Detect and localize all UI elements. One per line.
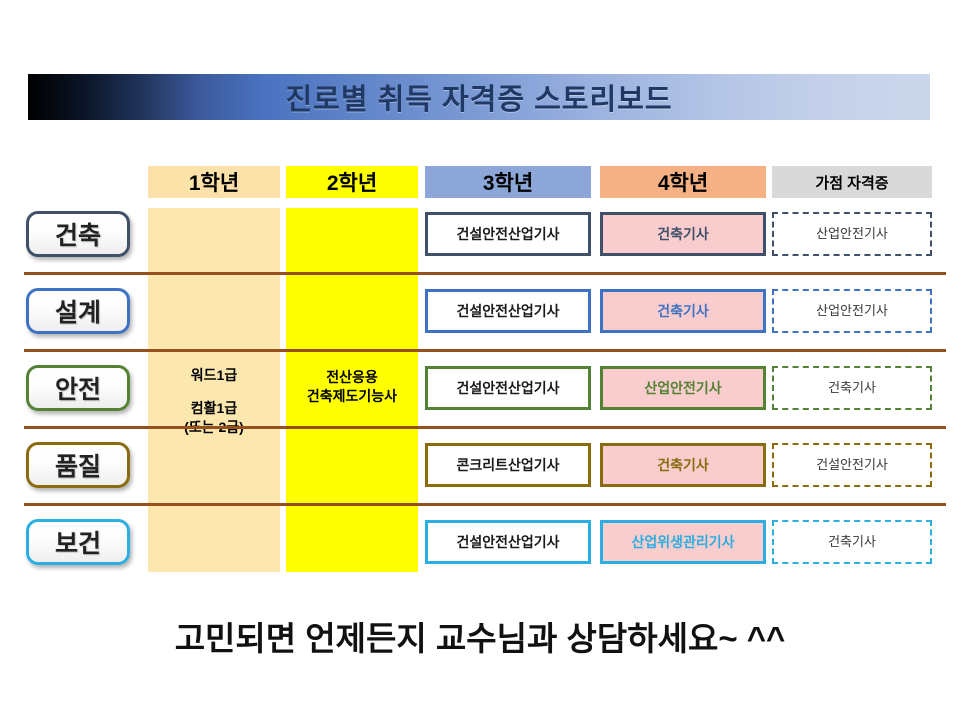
column-header-year3: 3학년 [425, 166, 591, 198]
row-label-text: 설계 [55, 293, 101, 329]
year1-span-cell: 워드1급 컴활1급 (또는 2급) [148, 208, 280, 572]
cert-label: 건설안전산업기사 [456, 380, 559, 397]
cert-cell-year4-row4[interactable]: 건축기사 [600, 443, 766, 487]
column-header-year1: 1학년 [148, 166, 280, 198]
cert-label: 산업안전기사 [644, 380, 721, 397]
cert-cell-bonus-row1[interactable]: 산업안전기사 [772, 212, 932, 256]
year2-line2: 건축제도기능사 [307, 388, 397, 404]
row-label-text: 품질 [55, 447, 101, 483]
cert-cell-year3-row4[interactable]: 콘크리트산업기사 [425, 443, 591, 487]
cert-cell-year4-row1[interactable]: 건축기사 [600, 212, 766, 256]
cert-cell-year4-row3[interactable]: 산업안전기사 [600, 366, 766, 410]
column-header-year2: 2학년 [286, 166, 418, 198]
row-label-5[interactable]: 보건 [26, 519, 130, 565]
cert-cell-bonus-row5[interactable]: 건축기사 [772, 520, 932, 564]
column-header-year1-label: 1학년 [189, 167, 239, 197]
column-header-bonus: 가점 자격증 [772, 166, 932, 198]
column-header-year4-label: 4학년 [658, 167, 708, 197]
cert-cell-year3-row3[interactable]: 건설안전산업기사 [425, 366, 591, 410]
year2-span-text: 전산응용 건축제도기능사 [286, 368, 418, 406]
cert-label: 건축기사 [657, 226, 709, 243]
row-label-text: 건축 [55, 216, 101, 252]
title-banner: 진로별 취득 자격증 스토리보드 [28, 74, 930, 120]
cert-label: 건설안전산업기사 [456, 303, 559, 320]
row-separator-over-year1 [148, 426, 280, 429]
row-separator-over-year2 [286, 272, 418, 275]
cert-label: 건설안전기사 [816, 457, 888, 473]
row-separator-over-year1 [148, 272, 280, 275]
cert-cell-year3-row1[interactable]: 건설안전산업기사 [425, 212, 591, 256]
column-header-year2-label: 2학년 [327, 167, 377, 197]
cert-label: 건축기사 [828, 534, 876, 550]
year2-line1: 전산응용 [326, 369, 378, 385]
cert-label: 건축기사 [657, 303, 709, 320]
cert-cell-bonus-row3[interactable]: 건축기사 [772, 366, 932, 410]
cert-label: 건축기사 [828, 380, 876, 396]
cert-label: 건축기사 [657, 457, 709, 474]
cert-label: 산업안전기사 [816, 303, 888, 319]
row-label-3[interactable]: 안전 [26, 365, 130, 411]
year1-line2: 컴활1급 [191, 400, 237, 416]
cert-label: 산업위생관리기사 [631, 534, 734, 551]
cert-cell-year3-row2[interactable]: 건설안전산업기사 [425, 289, 591, 333]
row-separator-over-year2 [286, 503, 418, 506]
footer-note: 고민되면 언제든지 교수님과 상담하세요~ ^^ [0, 612, 960, 660]
row-separator-over-year1 [148, 503, 280, 506]
column-header-year4: 4학년 [600, 166, 766, 198]
cert-cell-year3-row5[interactable]: 건설안전산업기사 [425, 520, 591, 564]
page-title: 진로별 취득 자격증 스토리보드 [285, 76, 672, 118]
cert-cell-bonus-row4[interactable]: 건설안전기사 [772, 443, 932, 487]
row-separator-over-year2 [286, 349, 418, 352]
cert-cell-bonus-row2[interactable]: 산업안전기사 [772, 289, 932, 333]
row-label-1[interactable]: 건축 [26, 211, 130, 257]
row-label-text: 보건 [55, 524, 101, 560]
year1-line1: 워드1급 [191, 367, 237, 383]
column-header-bonus-label: 가점 자격증 [815, 172, 888, 193]
row-separator [24, 426, 946, 429]
cert-label: 산업안전기사 [816, 226, 888, 242]
row-separator-over-year1 [148, 349, 280, 352]
column-header-year3-label: 3학년 [483, 167, 533, 197]
row-separator [24, 349, 946, 352]
cert-cell-year4-row2[interactable]: 건축기사 [600, 289, 766, 333]
row-label-4[interactable]: 품질 [26, 442, 130, 488]
cert-cell-year4-row5[interactable]: 산업위생관리기사 [600, 520, 766, 564]
cert-label: 건설안전산업기사 [456, 226, 559, 243]
row-separator [24, 503, 946, 506]
slide-canvas: 진로별 취득 자격증 스토리보드 1학년 2학년 3학년 4학년 가점 자격증 … [0, 0, 960, 720]
row-separator-over-year2 [286, 426, 418, 429]
row-label-text: 안전 [55, 370, 101, 406]
year2-span-cell: 전산응용 건축제도기능사 [286, 208, 418, 572]
cert-label: 건설안전산업기사 [456, 534, 559, 551]
row-separator [24, 272, 946, 275]
row-label-2[interactable]: 설계 [26, 288, 130, 334]
cert-label: 콘크리트산업기사 [456, 457, 559, 474]
